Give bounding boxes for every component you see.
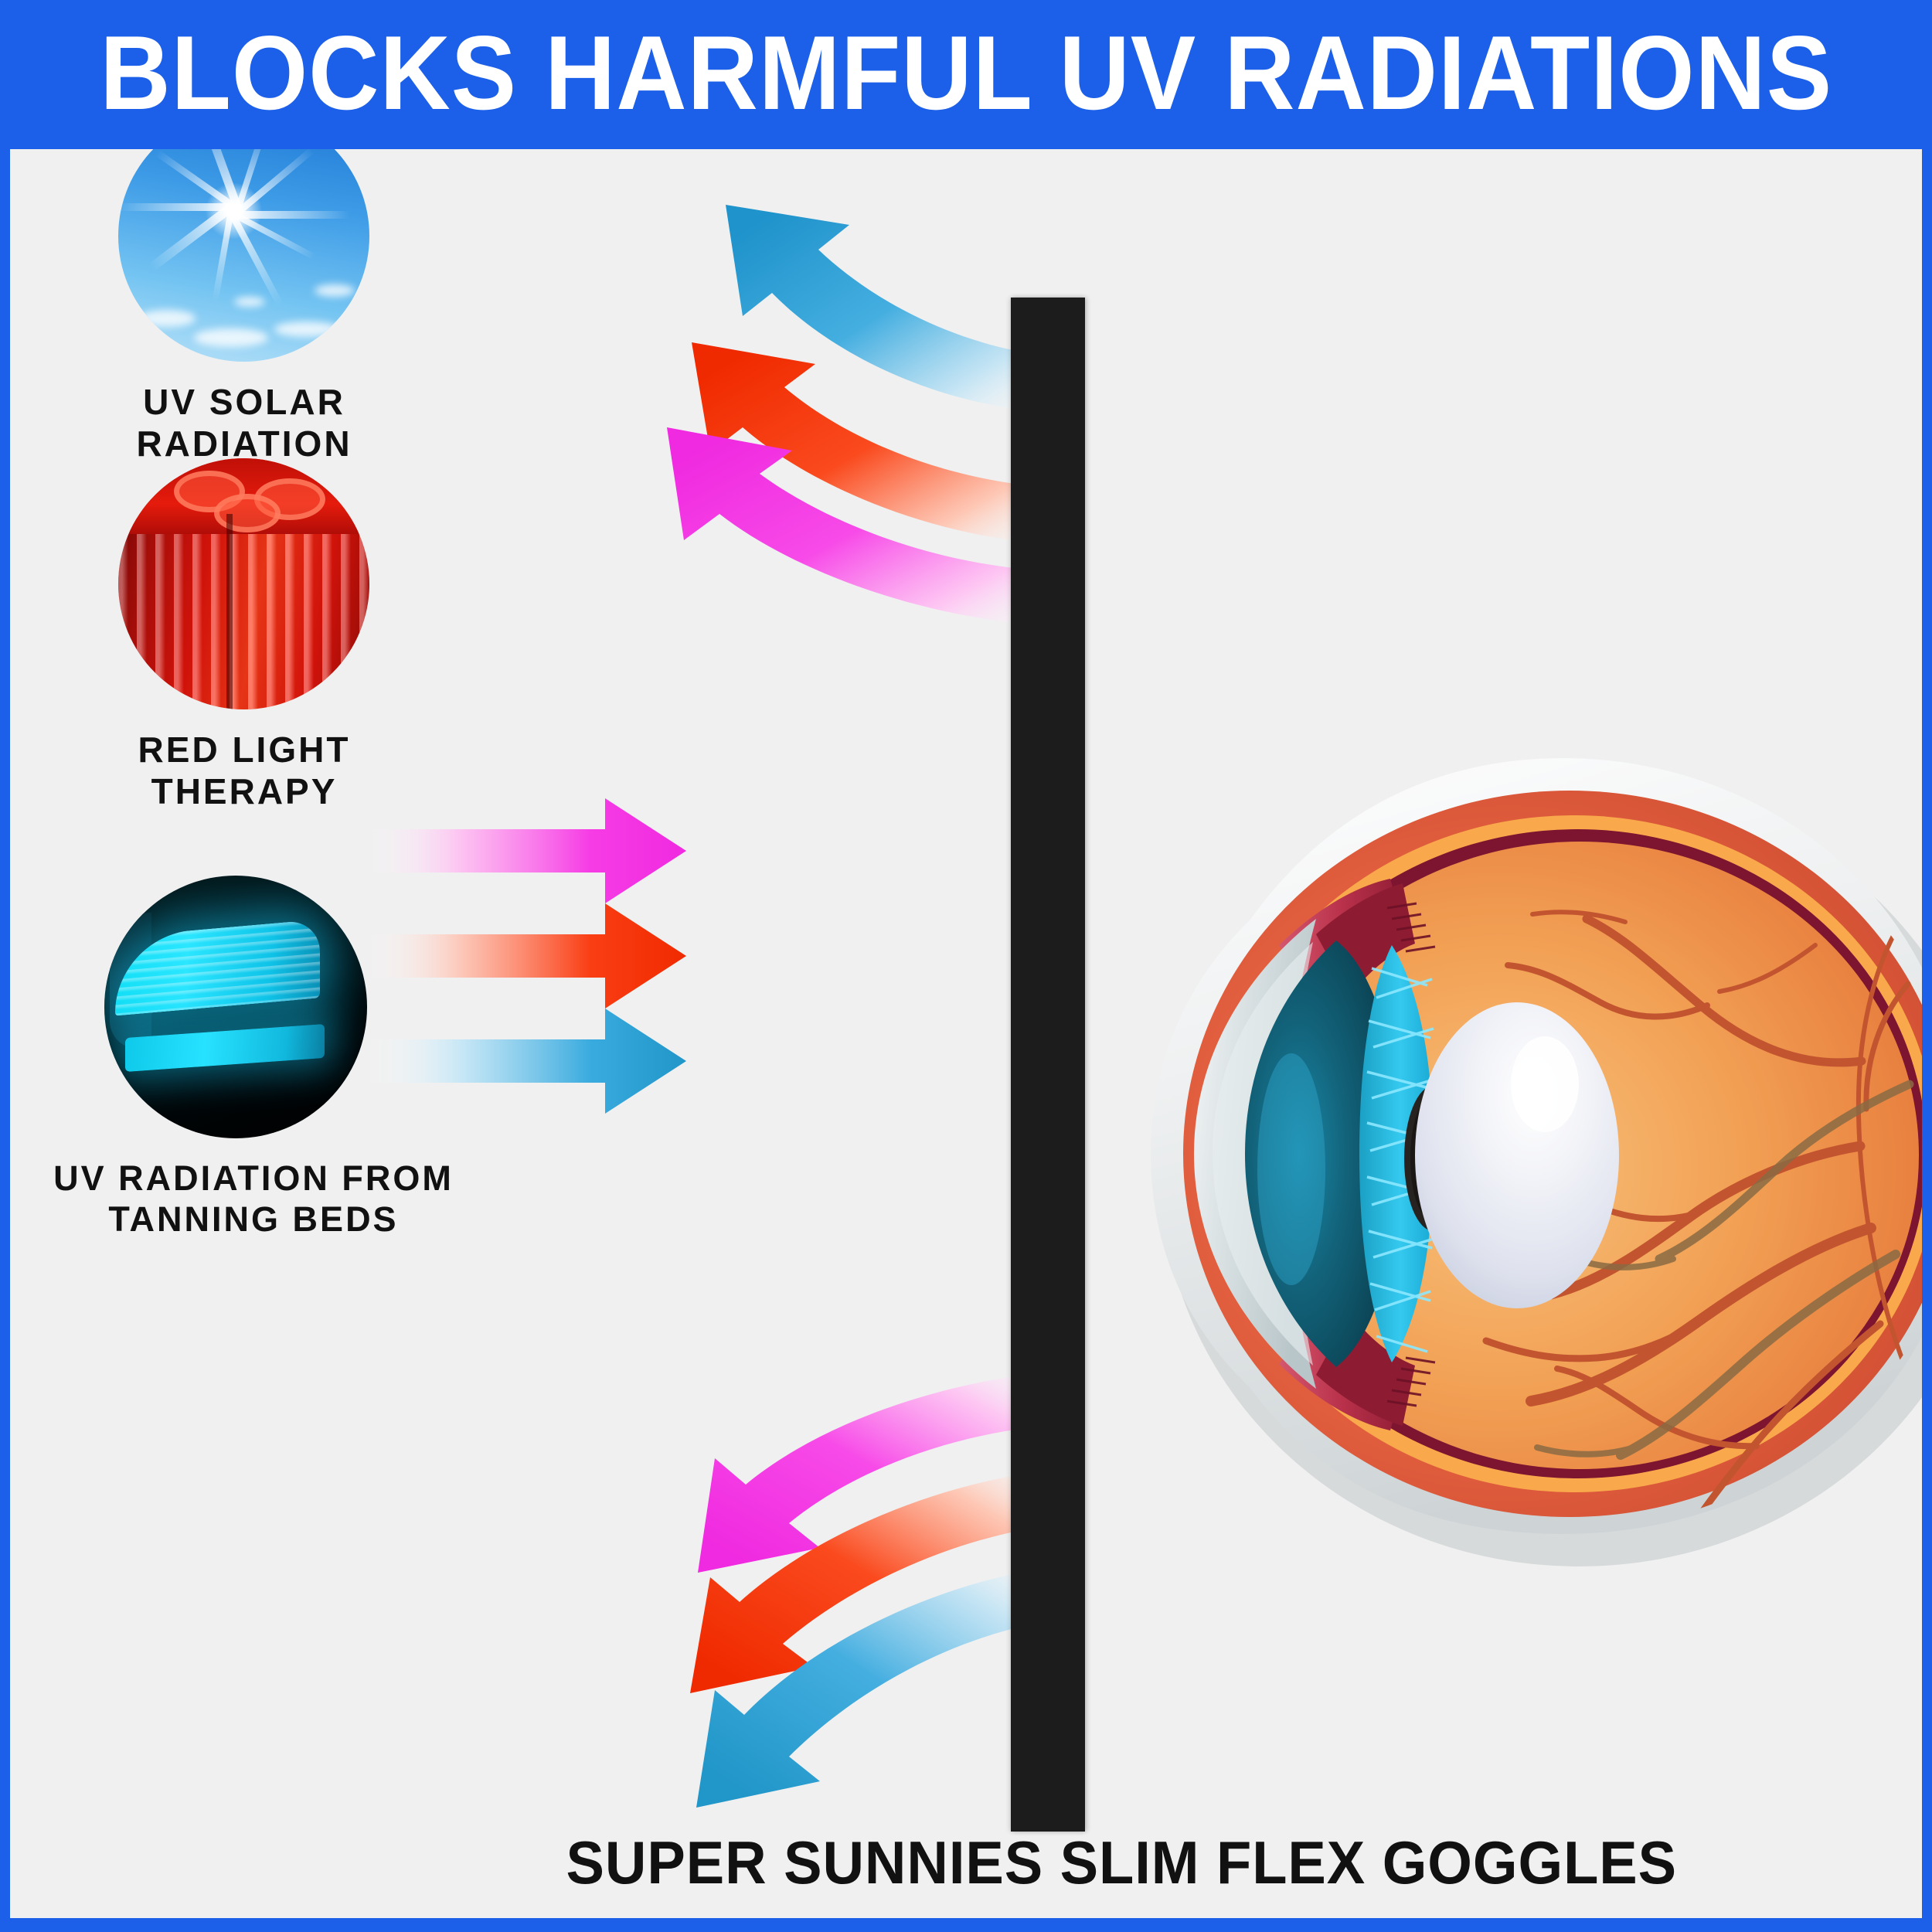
goggle-lens-barrier: [1011, 298, 1085, 1832]
source-label-line-2: TANNING BEDS: [49, 1199, 458, 1240]
lens: [1415, 1002, 1619, 1308]
booth-goggle-center: [214, 494, 281, 532]
bottom-caption: SUPER SUNNIES SLIM FLEX GOGGLES: [566, 1828, 1521, 1898]
red-light-therapy-image: [118, 458, 369, 709]
source-label-uv-radiation-tanning-beds: UV RADIATION FROM TANNING BEDS: [49, 1158, 458, 1240]
uv-tanning-bed-image: [104, 876, 367, 1138]
uv-tanning-bed-photo: [104, 876, 367, 1138]
blue-light-arrow: [726, 205, 1053, 412]
bottom-deflected-arrows: [551, 1355, 1077, 1865]
source-label-line-1: UV RADIATION FROM: [49, 1158, 458, 1199]
lens-highlight: [1511, 1036, 1579, 1132]
infographic-poster: BLOCKS HARMFUL UV RADIATIONS: [0, 0, 1932, 1932]
header-banner: BLOCKS HARMFUL UV RADIATIONS: [0, 0, 1932, 149]
eye-anatomy-cross-section: [1084, 713, 1922, 1602]
page-title: BLOCKS HARMFUL UV RADIATIONS: [100, 20, 1832, 130]
main-panel: UV SOLAR RADIATION RED LIGHT THERAPY: [10, 149, 1922, 1918]
source-card-uv-solar-radiation: UV SOLAR RADIATION: [66, 149, 422, 362]
uv-light-arrow: [667, 427, 1053, 625]
tanning-bed-lower-lamps: [125, 1024, 325, 1072]
source-label-red-light-therapy: RED LIGHT THERAPY: [66, 729, 422, 813]
booth-center-divider: [226, 514, 233, 710]
source-label-line-1: RED LIGHT: [66, 729, 422, 770]
source-card-uv-radiation-tanning-beds: UV RADIATION FROM TANNING BEDS: [49, 876, 458, 1138]
source-label-line-1: UV SOLAR: [66, 381, 422, 423]
source-label-line-2: THERAPY: [66, 770, 422, 812]
red-light-therapy-booth-photo: [118, 458, 369, 709]
anterior-chamber-highlight: [1257, 1053, 1325, 1285]
source-card-red-light-therapy: RED LIGHT THERAPY: [66, 458, 422, 709]
source-label-uv-solar-radiation: UV SOLAR RADIATION: [66, 381, 422, 465]
uv-solar-radiation-image: [118, 149, 369, 362]
sun-in-blue-sky-photo: [118, 149, 369, 362]
top-deflected-arrows: [582, 157, 1061, 636]
red-light-arrow: [692, 342, 1053, 543]
